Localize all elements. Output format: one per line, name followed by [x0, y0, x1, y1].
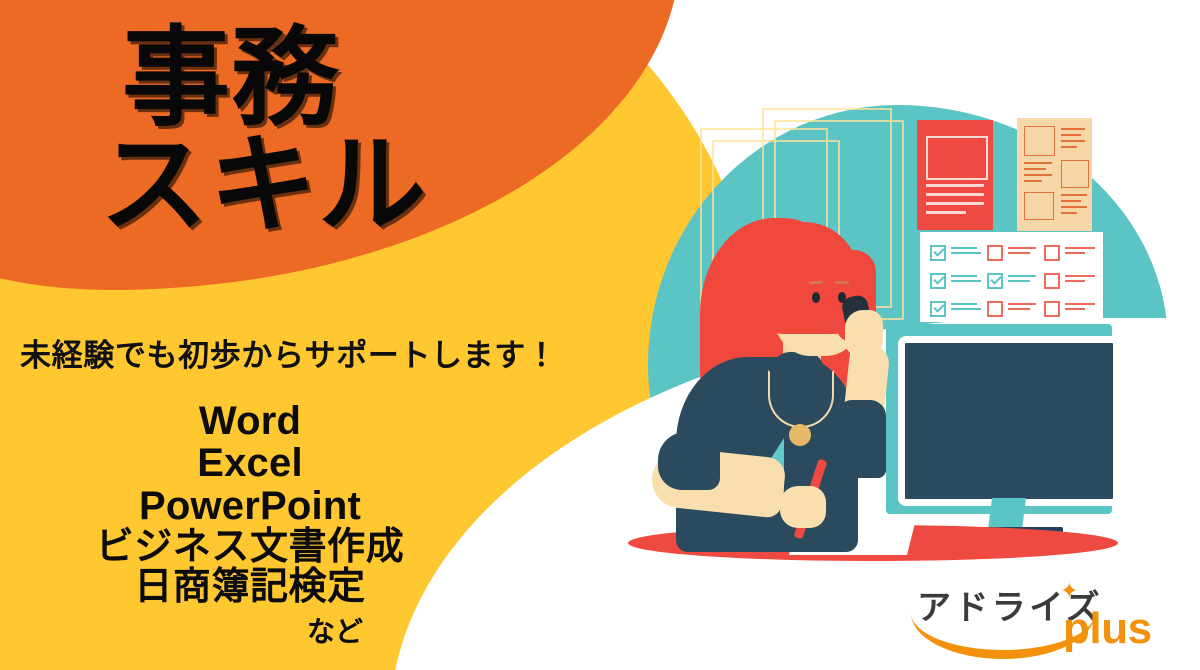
logo-plus-text: plus	[1063, 604, 1152, 654]
resume-text-line	[1024, 162, 1052, 164]
checklist-item	[930, 244, 983, 264]
checkbox-empty-icon	[1044, 273, 1060, 289]
checklist-text-lines	[1008, 247, 1038, 257]
resume-text-line	[1024, 180, 1042, 182]
checklist-row	[930, 300, 1096, 320]
resume-text-line	[1061, 194, 1087, 196]
checkbox-checked-icon	[930, 245, 946, 261]
resume-text-line	[1061, 200, 1081, 202]
checklist-item	[1044, 300, 1097, 320]
headline-line-2: スキル	[100, 133, 427, 238]
checkbox-checked-icon	[930, 301, 946, 317]
checklist-text-lines	[951, 275, 981, 285]
checklist-text-lines	[1065, 303, 1095, 313]
checklist-card	[920, 232, 1103, 322]
eye	[812, 292, 820, 303]
checklist-item	[987, 272, 1040, 292]
checkbox-empty-icon	[1044, 245, 1060, 261]
left-sleeve	[658, 432, 720, 490]
headline-line-1: 事務	[122, 26, 427, 131]
checkbox-empty-icon	[987, 301, 1003, 317]
checklist-text-lines	[1065, 247, 1095, 257]
promo-banner: 事務 スキル 未経験でも初歩からサポートします！ Word Excel Powe…	[0, 0, 1200, 670]
poster-text-line	[926, 211, 966, 214]
desktop-monitor	[898, 336, 1120, 506]
brand-logo[interactable]: アドライズ ✦ plus	[905, 578, 1190, 656]
skill-item: ビジネス文書作成	[0, 527, 500, 567]
subheading: 未経験でも初歩からサポートします！	[20, 330, 558, 375]
checklist-row	[930, 244, 1096, 264]
headline: 事務 スキル	[122, 26, 427, 238]
beige-resume-poster	[1017, 118, 1092, 231]
right-sleeve	[838, 400, 886, 478]
resume-text-line	[1061, 146, 1077, 148]
checklist-item	[987, 300, 1040, 320]
checklist-item	[1044, 272, 1097, 292]
checklist-text-lines	[951, 303, 981, 313]
logo-star-icon: ✦	[1060, 580, 1082, 602]
resume-text-line	[1024, 168, 1046, 170]
resume-text-line	[1061, 206, 1087, 208]
resume-text-line	[1061, 134, 1081, 136]
resume-text-line	[1061, 128, 1085, 130]
checkbox-checked-icon	[987, 273, 1003, 289]
resume-text-line	[1061, 212, 1077, 214]
checklist-item	[1044, 244, 1097, 264]
skill-item: PowerPoint	[0, 485, 500, 527]
checklist-item	[930, 272, 983, 292]
resume-text-line	[1024, 174, 1052, 176]
resume-photo-box	[1024, 126, 1055, 156]
checkbox-checked-icon	[930, 273, 946, 289]
skills-suffix: など	[170, 610, 500, 650]
resume-text-line	[1061, 140, 1085, 142]
checklist-item	[930, 300, 983, 320]
necklace-pendant	[789, 424, 811, 446]
red-document-poster	[917, 120, 993, 230]
checklist-text-lines	[1008, 275, 1038, 285]
resume-photo-box	[1061, 160, 1089, 188]
poster-text-line	[926, 193, 984, 196]
checkbox-empty-icon	[987, 245, 1003, 261]
skill-item: Word	[0, 400, 500, 442]
poster-text-line	[926, 202, 984, 205]
checklist-row	[930, 272, 1096, 292]
skill-item: 日商簿記検定	[0, 567, 500, 607]
skills-list: Word Excel PowerPoint ビジネス文書作成 日商簿記検定 など	[0, 400, 500, 650]
checkbox-empty-icon	[1044, 301, 1060, 317]
right-hand	[845, 310, 883, 356]
checklist-text-lines	[1065, 275, 1095, 285]
poster-image-box	[926, 136, 988, 180]
checklist-text-lines	[951, 247, 981, 257]
resume-photo-box	[1024, 192, 1054, 220]
left-hand	[780, 486, 826, 528]
poster-text-line	[926, 184, 984, 187]
skill-item: Excel	[0, 442, 500, 484]
checklist-text-lines	[1008, 303, 1038, 313]
checklist-item	[987, 244, 1040, 264]
